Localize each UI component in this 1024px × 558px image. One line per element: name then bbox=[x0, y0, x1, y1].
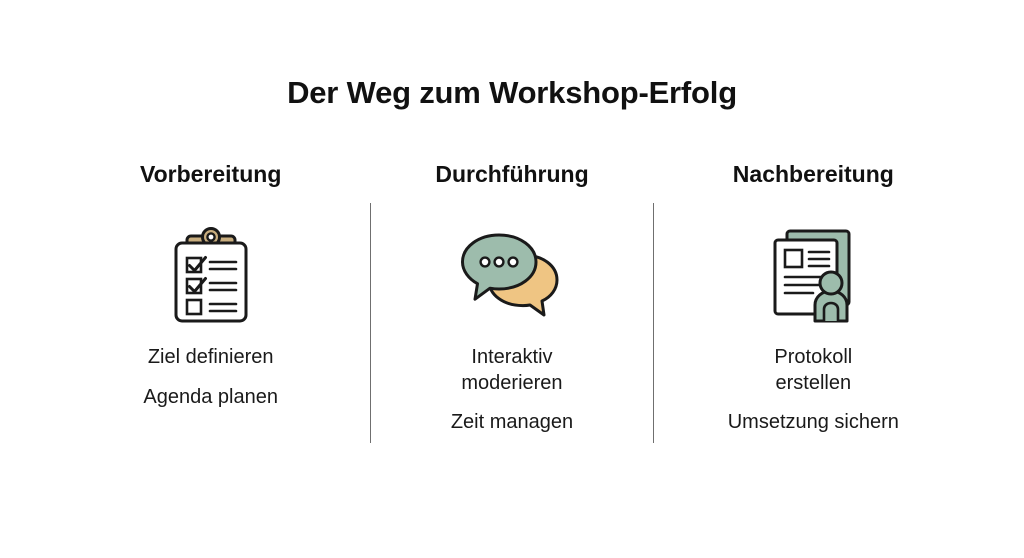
items-nachbereitung: Protokoll erstellen Umsetzung sichern bbox=[663, 345, 964, 436]
clipboard-checklist-icon bbox=[163, 222, 259, 327]
items-vorbereitung: Ziel definieren Agenda planen bbox=[60, 345, 361, 410]
item-text: Interaktiv moderieren bbox=[452, 345, 572, 396]
slide-canvas: Der Weg zum Workshop-Erfolg Vorbereitung bbox=[0, 0, 1024, 558]
items-durchfuehrung: Interaktiv moderieren Zeit managen bbox=[361, 345, 662, 436]
page-title: Der Weg zum Workshop-Erfolg bbox=[0, 74, 1024, 111]
column-header-nachbereitung: Nachbereitung bbox=[733, 160, 894, 192]
item-text: Agenda planen bbox=[143, 385, 278, 411]
item-text: Ziel definieren bbox=[148, 345, 274, 371]
column-divider-1 bbox=[370, 203, 371, 443]
documents-person-icon bbox=[763, 222, 863, 327]
column-divider-2 bbox=[653, 203, 654, 443]
column-vorbereitung: Vorbereitung bbox=[60, 160, 361, 460]
item-text: Umsetzung sichern bbox=[728, 410, 899, 436]
speech-bubbles-icon bbox=[457, 222, 567, 327]
documents-person-icon-svg bbox=[763, 225, 863, 325]
item-text: Zeit managen bbox=[451, 410, 573, 436]
item-text: Protokoll erstellen bbox=[758, 345, 868, 396]
column-header-durchfuehrung: Durchführung bbox=[435, 160, 588, 192]
column-durchfuehrung: Durchführung Interaktiv moderieren Zeit … bbox=[361, 160, 662, 460]
column-header-vorbereitung: Vorbereitung bbox=[140, 160, 281, 192]
speech-bubbles-icon-svg bbox=[457, 229, 567, 321]
column-nachbereitung: Nachbereitung bbox=[663, 160, 964, 460]
clipboard-checklist-icon-svg bbox=[163, 225, 259, 325]
columns-container: Vorbereitung bbox=[60, 160, 964, 460]
